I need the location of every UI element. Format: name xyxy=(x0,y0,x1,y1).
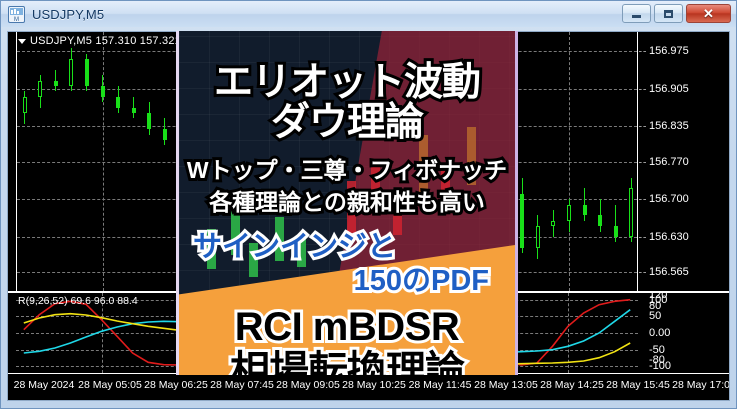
maximize-button[interactable] xyxy=(654,4,683,23)
promo-overlay: エリオット波動 ダウ理論 Wトップ・三尊・フィボナッチ 各種理論との親和性も高い… xyxy=(176,31,518,375)
time-tick-label: 28 May 17:05 xyxy=(672,379,730,391)
window-controls: ✕ xyxy=(622,4,731,23)
price-tick-label: 156.905 xyxy=(649,83,689,95)
minimize-icon xyxy=(632,15,641,18)
promo-sub-1: Wトップ・三尊・フィボナッチ xyxy=(179,159,515,182)
price-tick-mark xyxy=(639,51,646,52)
price-tick-label: 156.770 xyxy=(649,156,689,168)
chart-menu-caret-icon[interactable] xyxy=(18,39,26,44)
indicator-tick-label: 0.00 xyxy=(649,327,670,339)
time-tick-label: 28 May 15:45 xyxy=(606,379,670,391)
price-tick-label: 156.700 xyxy=(649,193,689,205)
time-tick-label: 28 May 11:45 xyxy=(409,379,472,391)
chart-window-icon: M xyxy=(8,6,25,23)
price-tick-mark xyxy=(639,89,646,90)
price-tick-mark xyxy=(639,272,646,273)
time-tick-label: 28 May 07:45 xyxy=(210,379,274,391)
window-title: USDJPY,M5 xyxy=(32,7,104,22)
indicator-label: R(9,26,52) 69.6 96.0 88.4 xyxy=(18,295,138,307)
price-tick-mark xyxy=(639,126,646,127)
close-icon: ✕ xyxy=(703,7,714,20)
time-gridline xyxy=(103,32,104,291)
time-tick-label: 28 May 13:05 xyxy=(474,379,538,391)
price-axis[interactable]: 156.975156.905156.835156.770156.700156.6… xyxy=(639,32,729,291)
time-tick-label: 28 May 14:25 xyxy=(540,379,604,391)
time-tick-label: 28 May 06:25 xyxy=(144,379,208,391)
price-tick-mark xyxy=(639,162,646,163)
promo-sub-2: 各種理論との親和性も高い xyxy=(179,191,515,214)
time-tick-label: 28 May 09:05 xyxy=(276,379,340,391)
window-titlebar[interactable]: M USDJPY,M5 ✕ xyxy=(1,1,736,27)
time-gridline xyxy=(569,32,570,291)
promo-headline-2: ダウ理論 xyxy=(179,103,515,142)
indicator-tick-label: 50 xyxy=(649,310,661,322)
promo-footer-2: 相場転換理論 xyxy=(179,351,515,375)
time-tick-label: 28 May 10:25 xyxy=(342,379,406,391)
indicator-axis[interactable]: 12010080500.00-50-80-100 xyxy=(639,293,729,373)
indicator-tick-label: -100 xyxy=(649,360,671,372)
metatrader-window: M USDJPY,M5 ✕ USDJPY,M5 157.310 157.321 … xyxy=(0,0,737,409)
promo-feature-1: サインインジと xyxy=(179,233,515,262)
minimize-button[interactable] xyxy=(622,4,651,23)
price-tick-label: 156.565 xyxy=(649,266,689,278)
maximize-icon xyxy=(664,10,673,18)
svg-text:M: M xyxy=(14,17,19,23)
promo-footer-1: RCI mBDSR xyxy=(179,307,515,347)
promo-feature-2: 150のPDF xyxy=(179,267,515,296)
promo-headline-1: エリオット波動 xyxy=(179,63,515,102)
time-tick-label: 28 May 2024 xyxy=(14,379,75,391)
price-tick-mark xyxy=(639,199,646,200)
close-button[interactable]: ✕ xyxy=(686,4,731,23)
time-tick-label: 28 May 05:05 xyxy=(78,379,142,391)
price-tick-mark xyxy=(639,237,646,238)
price-tick-label: 156.835 xyxy=(649,120,689,132)
price-tick-label: 156.630 xyxy=(649,231,689,243)
time-axis[interactable]: 28 May 202428 May 05:0528 May 06:2528 Ma… xyxy=(8,373,729,401)
price-tick-label: 156.975 xyxy=(649,45,689,57)
